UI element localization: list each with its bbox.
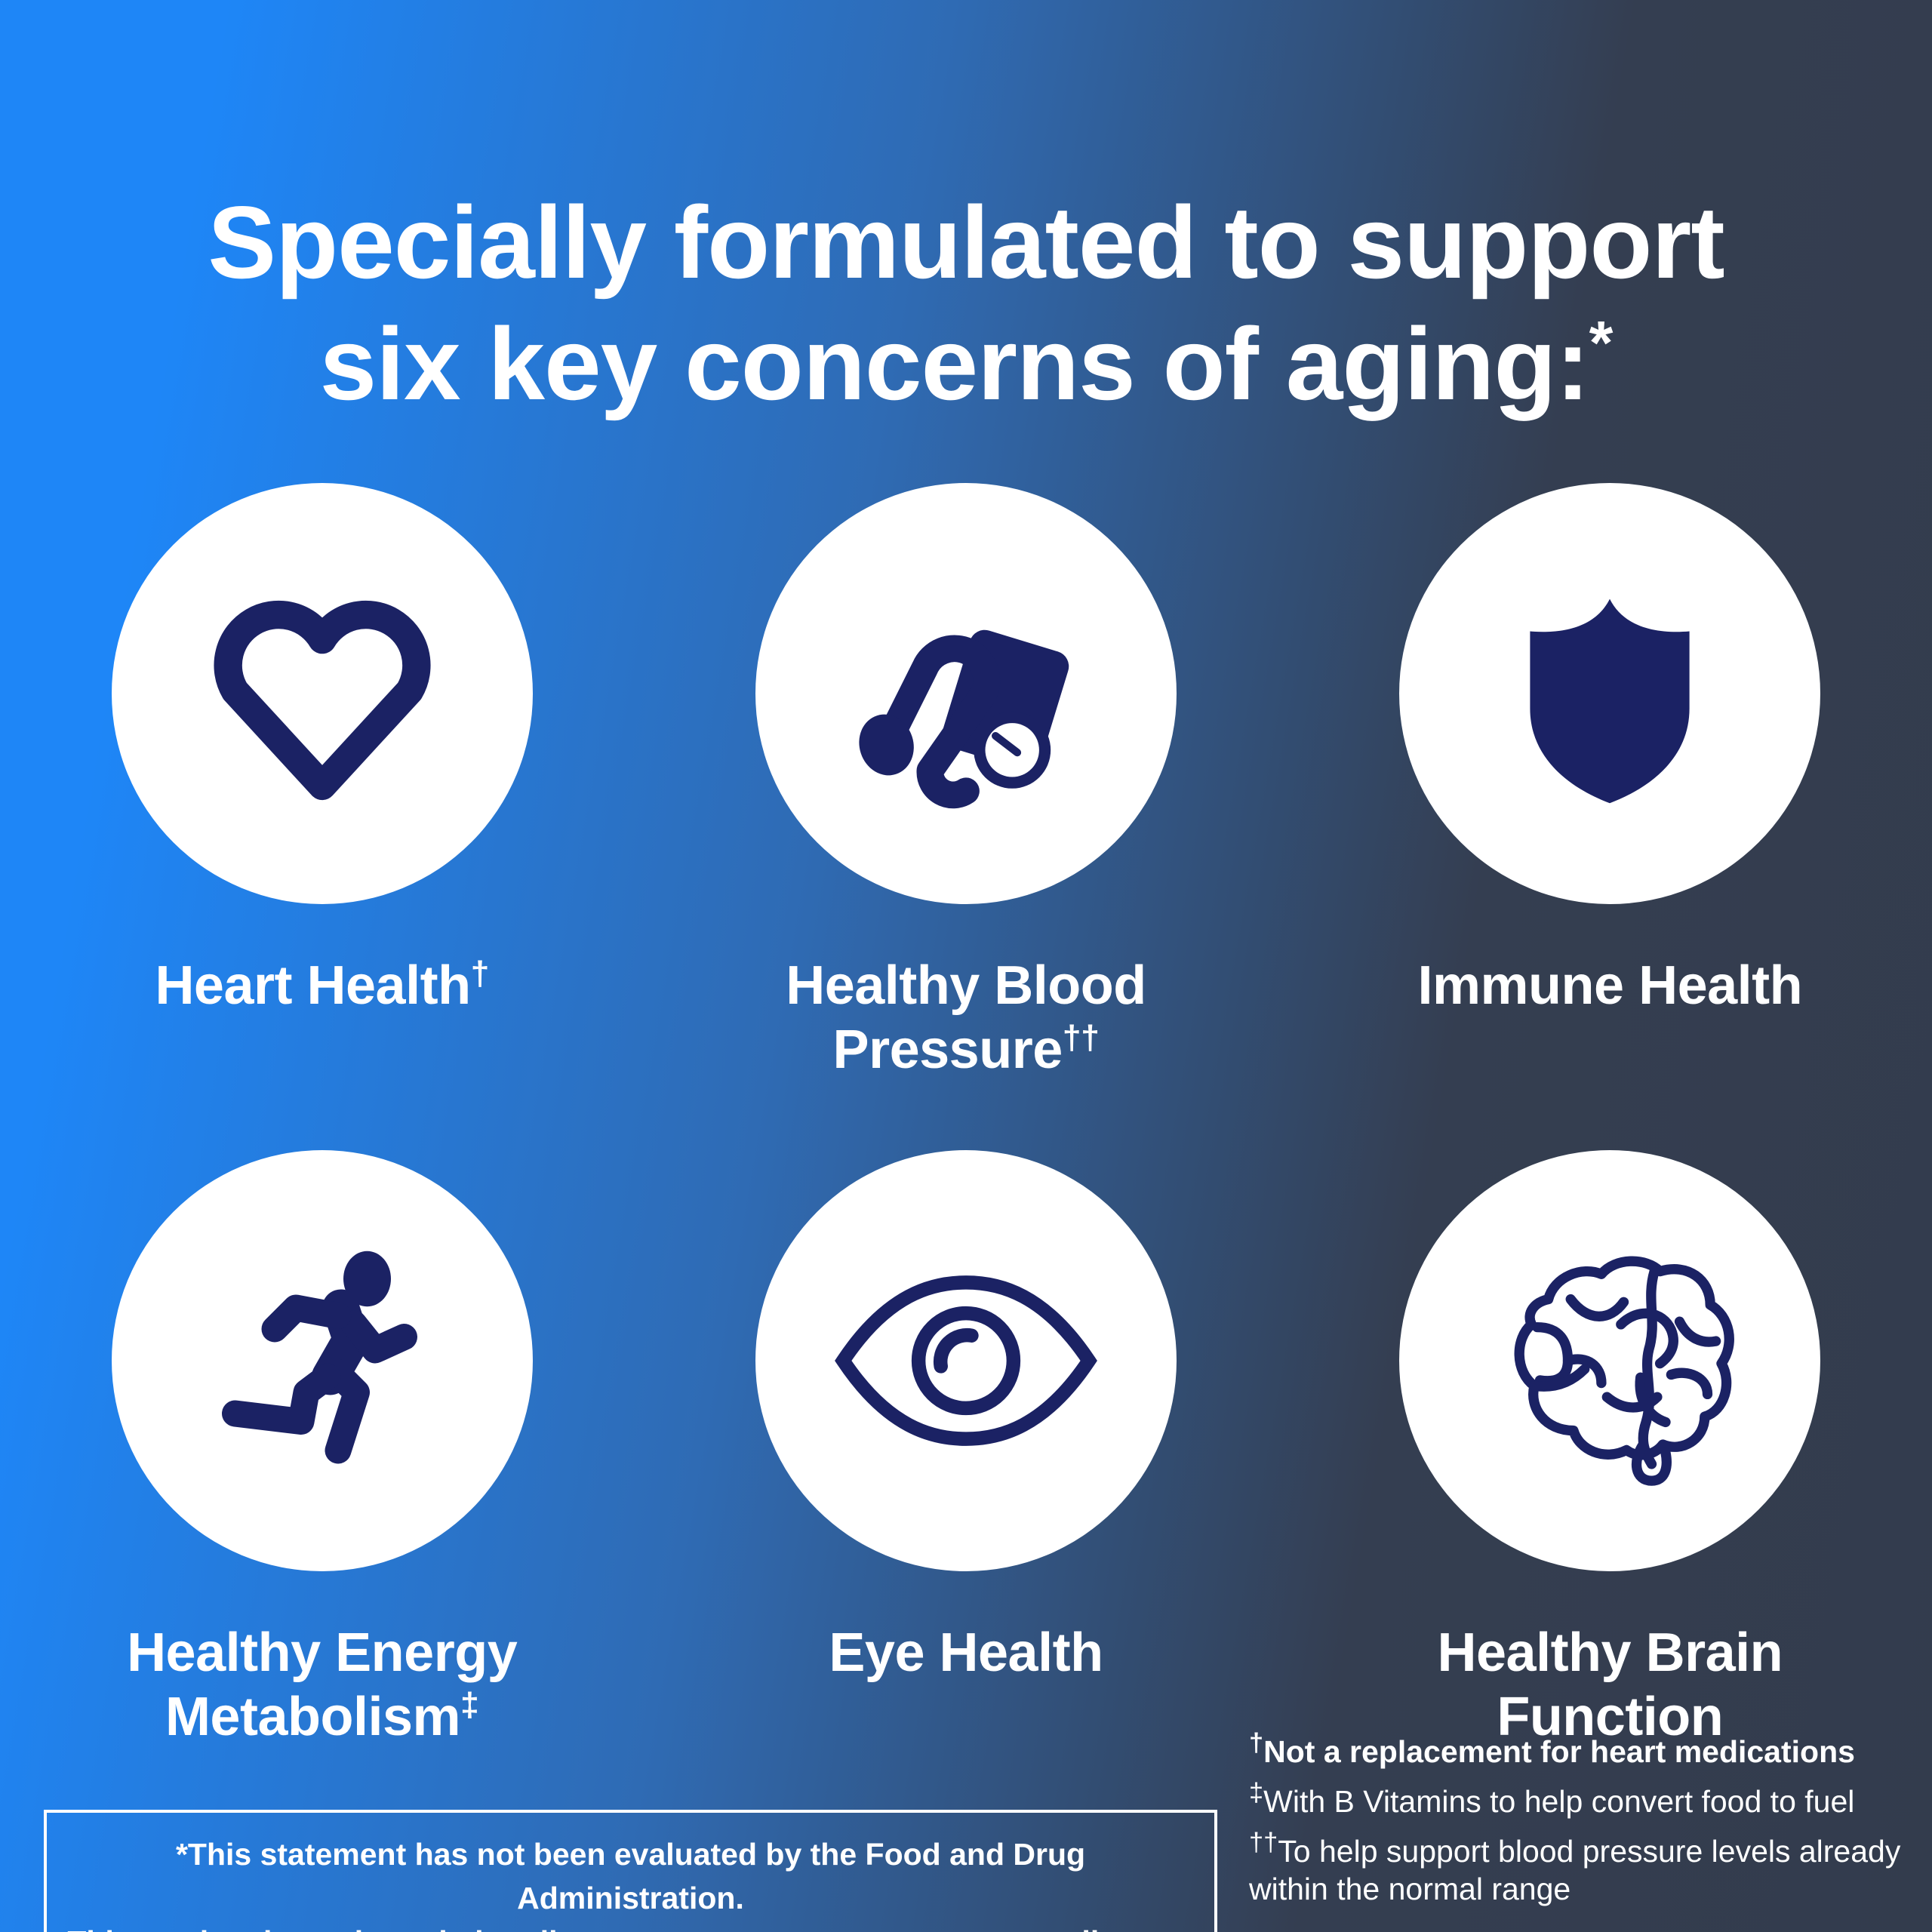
benefit-label-text: Healthy Brain Function <box>1437 1623 1783 1747</box>
footnote-blood-pressure-levels: ††To help support blood pressure levels … <box>1249 1832 1913 1908</box>
benefit-label-text: Healthy Energy Metabolism <box>127 1623 517 1747</box>
benefit-card-healthy-blood-pressure[interactable]: Healthy Blood Pressure†† <box>644 483 1287 1082</box>
running-person-icon <box>190 1229 454 1493</box>
footnote-text: To help support blood pressure levels al… <box>1249 1834 1900 1906</box>
icon-disc <box>755 1150 1177 1571</box>
heart-icon <box>194 565 451 822</box>
icon-disc <box>1399 1150 1820 1571</box>
footnote-mark: † <box>1249 1728 1263 1757</box>
benefit-label-text: Eye Health <box>829 1623 1103 1683</box>
page-title: Specially formulated to support six key … <box>0 182 1932 424</box>
eye-icon <box>826 1221 1106 1500</box>
benefit-label: Healthy Blood Pressure†† <box>702 954 1230 1082</box>
benefit-label: Immune Health <box>1418 954 1803 1018</box>
benefit-label: Eye Health <box>829 1621 1103 1685</box>
benefit-card-healthy-energy-metabolism[interactable]: Healthy Energy Metabolism‡ <box>0 1150 644 1749</box>
footnote-mark: ‡ <box>1249 1778 1263 1807</box>
footnote-mark: †† <box>1249 1828 1278 1857</box>
benefit-card-eye-health[interactable]: Eye Health <box>644 1150 1287 1749</box>
icon-disc <box>112 483 533 904</box>
blood-pressure-cuff-icon <box>838 565 1094 822</box>
benefit-label: Healthy Brain Function <box>1346 1621 1874 1749</box>
icon-disc <box>1399 483 1820 904</box>
shield-icon <box>1485 569 1734 818</box>
footnote-heart-medications: †Not a replacement for heart medications <box>1249 1733 1913 1770</box>
fda-disclaimer-line-2: This product is not intended to diagnose… <box>62 1920 1199 1932</box>
poster-canvas: Specially formulated to support six key … <box>0 0 1932 1932</box>
footnote-list: †Not a replacement for heart medications… <box>1249 1733 1913 1908</box>
benefit-card-healthy-brain-function[interactable]: Healthy Brain Function <box>1288 1150 1932 1749</box>
footnote-text: Not a replacement for heart medications <box>1263 1734 1855 1769</box>
benefit-label-mark: †† <box>1063 1020 1100 1057</box>
headline-line-2: six key concerns of aging: <box>320 306 1589 421</box>
headline-line-2-wrap: six key concerns of aging:* <box>0 303 1932 424</box>
benefit-label: Healthy Energy Metabolism‡ <box>58 1621 586 1749</box>
benefit-label: Heart Health† <box>155 954 488 1018</box>
fda-disclaimer-box: *This statement has not been evaluated b… <box>44 1810 1217 1932</box>
benefit-label-mark: † <box>471 955 489 992</box>
icon-disc <box>755 483 1177 904</box>
brain-icon <box>1470 1221 1749 1500</box>
fda-disclaimer-line-1: *This statement has not been evaluated b… <box>62 1832 1199 1920</box>
benefits-grid: Heart Health† <box>0 483 1932 1749</box>
benefit-label-text: Healthy Blood Pressure <box>786 955 1146 1080</box>
benefit-label-text: Immune Health <box>1418 955 1803 1016</box>
headline-asterisk: * <box>1589 309 1613 377</box>
footnote-b-vitamins: ‡With B Vitamins to help convert food to… <box>1249 1783 1913 1820</box>
icon-disc <box>112 1150 533 1571</box>
benefit-card-immune-health[interactable]: Immune Health <box>1288 483 1932 1082</box>
headline-line-1: Specially formulated to support <box>0 182 1932 303</box>
benefit-label-mark: ‡ <box>460 1687 478 1724</box>
benefit-card-heart-health[interactable]: Heart Health† <box>0 483 644 1082</box>
benefit-label-text: Heart Health <box>155 955 470 1016</box>
footnote-text: With B Vitamins to help convert food to … <box>1263 1784 1854 1819</box>
